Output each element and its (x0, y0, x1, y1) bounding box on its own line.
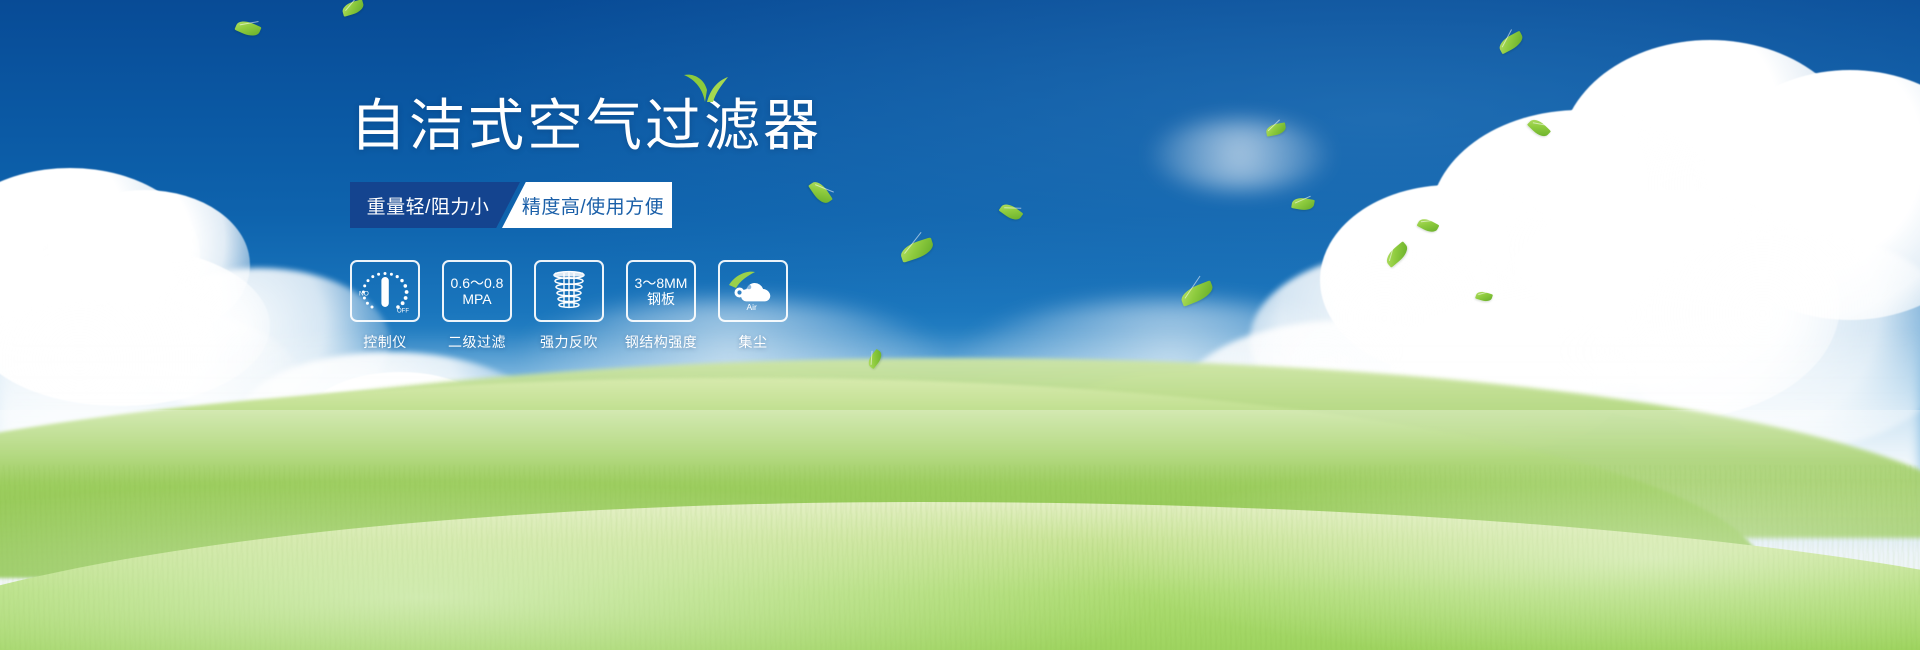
feature-caption: 钢结构强度 (625, 332, 698, 352)
backblow-coil-icon (546, 268, 592, 314)
title-sprout-leaf-icon (683, 72, 729, 102)
feature-box: 3～8MM 钢板 (626, 260, 696, 322)
feature-line-2: MPA (451, 291, 504, 307)
feature-strong-backblow: 强力反吹 (534, 260, 604, 352)
feature-steel-structure-strength: 3～8MM 钢板 钢结构强度 (626, 260, 696, 352)
feature-two-stage-filtration: 0.6～0.8 MPA 二级过滤 (442, 260, 512, 352)
cloud-wisp (1150, 120, 1330, 190)
control-dial-icon: NO OFF (357, 267, 413, 315)
product-hero-banner: 自洁式空气过滤器 重量轻/阻力小 精度高/使用方便 (0, 0, 1920, 650)
badge-precision-ease: 精度高/使用方便 (502, 182, 672, 228)
feature-box (534, 260, 604, 322)
feature-box: Air (718, 260, 788, 322)
feature-dust-collection: Air 集尘 (718, 260, 788, 352)
steel-plate-text-icon: 3～8MM 钢板 (635, 275, 688, 307)
banner-content: 自洁式空气过滤器 重量轻/阻力小 精度高/使用方便 (350, 98, 970, 352)
grass-field (0, 410, 1920, 650)
page-title: 自洁式空气过滤器 (350, 98, 970, 154)
dial-off-label: OFF (397, 309, 409, 315)
feature-line-2: 钢板 (635, 291, 688, 307)
feature-control-instrument: NO OFF 控制仪 (350, 260, 420, 352)
feature-box: NO OFF (350, 260, 420, 322)
feature-caption: 二级过滤 (448, 332, 506, 352)
title-block: 自洁式空气过滤器 (350, 98, 970, 154)
feature-line-1: 0.6～0.8 (451, 275, 504, 291)
feature-caption: 控制仪 (363, 332, 407, 352)
feature-box: 0.6～0.8 MPA (442, 260, 512, 322)
feature-line-1: 3～8MM (635, 275, 688, 291)
pressure-text-icon: 0.6～0.8 MPA (451, 275, 504, 307)
feature-caption: 强力反吹 (540, 332, 598, 352)
cloud-air-label: Air (747, 302, 758, 312)
tagline-badges: 重量轻/阻力小 精度高/使用方便 (350, 182, 672, 228)
feature-caption: 集尘 (739, 332, 768, 352)
feature-icon-row: NO OFF 控制仪 0.6～0.8 MPA 二级过滤 (350, 260, 970, 352)
air-cloud-icon: Air (727, 269, 779, 313)
badge-weight-resistance: 重量轻/阻力小 (350, 182, 520, 228)
dial-on-label: NO (359, 291, 369, 298)
